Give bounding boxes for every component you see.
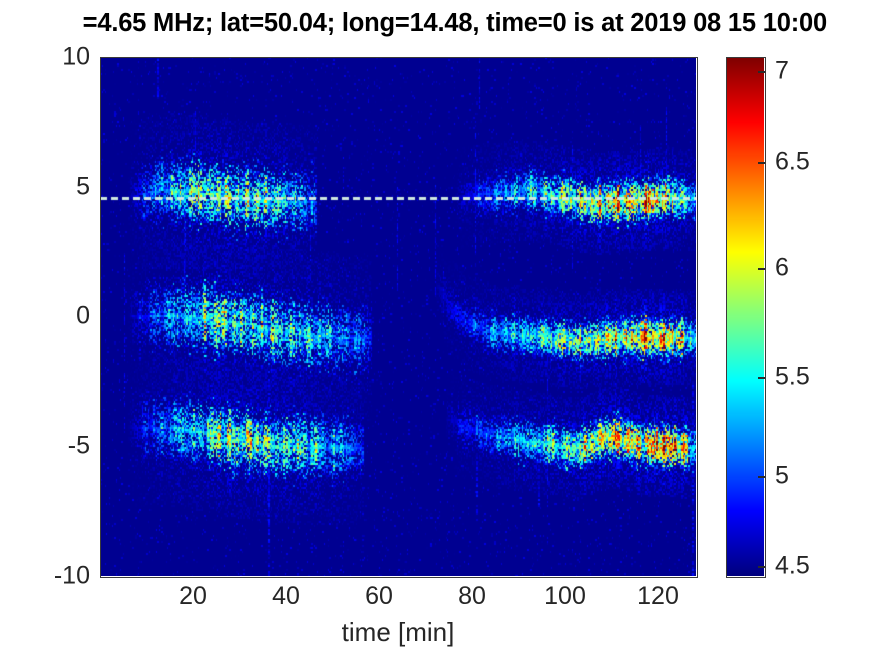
colorbar-tick-mark-0 (758, 566, 765, 568)
x-axis-label: time [min] (342, 617, 455, 648)
colorbar-tick-label-5: 7 (775, 57, 789, 86)
x-tick-label-5: 120 (637, 582, 679, 611)
colorbar-tick-label-4: 6.5 (775, 148, 810, 177)
colorbar-tick-label-3: 6 (775, 254, 789, 283)
x-tick-label-1: 40 (272, 582, 300, 611)
colorbar[interactable] (726, 57, 764, 576)
y-tick-label-1: 5 (0, 173, 100, 202)
y-tick-label-2: 0 (0, 302, 100, 331)
colorbar-tick-mark-3 (758, 268, 765, 270)
colorbar-tick-mark-2 (758, 377, 765, 379)
y-tick-label-0: 10 (0, 43, 100, 72)
figure-title: =4.65 MHz; lat=50.04; long=14.48, time=0… (0, 6, 875, 40)
colorbar-tick-label-2: 5.5 (775, 363, 810, 392)
spectrogram-figure: =4.65 MHz; lat=50.04; long=14.48, time=0… (0, 0, 875, 656)
x-tick-label-0: 20 (179, 582, 207, 611)
colorbar-gradient (726, 57, 764, 576)
x-tick-label-4: 100 (544, 582, 586, 611)
spectrogram-heatmap (100, 57, 696, 576)
y-tick-label-3: -5 (0, 432, 100, 461)
y-tick-label-4: -10 (0, 562, 100, 591)
colorbar-tick-label-1: 5 (775, 462, 789, 491)
x-tick-label-3: 80 (458, 582, 486, 611)
colorbar-tick-label-0: 4.5 (775, 552, 810, 581)
plot-area[interactable] (100, 57, 696, 576)
x-tick-label-2: 60 (365, 582, 393, 611)
colorbar-tick-mark-4 (758, 162, 765, 164)
colorbar-tick-mark-5 (758, 71, 765, 73)
colorbar-tick-mark-1 (758, 476, 765, 478)
